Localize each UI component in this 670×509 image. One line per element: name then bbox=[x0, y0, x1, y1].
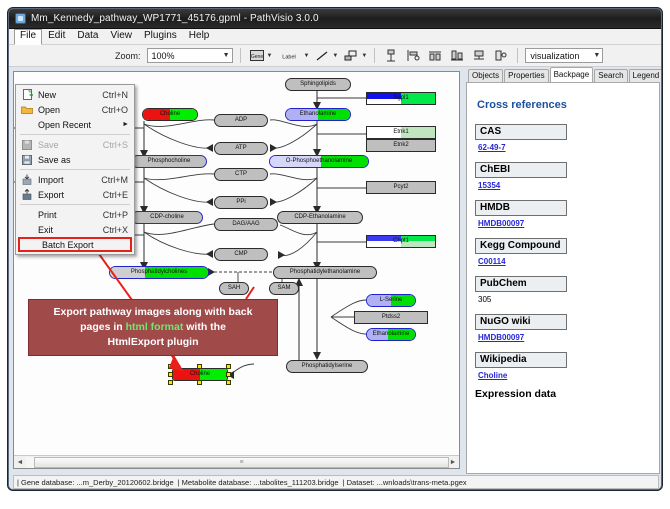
tab-backpage[interactable]: Backpage bbox=[550, 67, 594, 82]
toolbar-separator bbox=[240, 48, 241, 63]
xref-link[interactable]: HMDB00097 bbox=[478, 333, 651, 342]
pathway-node-cdp-choline[interactable]: CDP-choline bbox=[131, 211, 203, 224]
svg-text:Label: Label bbox=[283, 54, 296, 60]
pathway-gene-etnk1[interactable]: Etnk1 bbox=[366, 126, 436, 139]
pathway-node-phosphatidylethanolamine[interactable]: Phosphatidylethanolamine bbox=[273, 266, 377, 279]
chevron-down-icon: ▼ bbox=[223, 52, 230, 59]
xref-pubchem: PubChem 305 bbox=[475, 273, 651, 304]
menu-item-view[interactable]: View bbox=[104, 29, 138, 44]
menu-new-label: New bbox=[38, 90, 102, 100]
application-window: Mm_Kennedy_pathway_WP1771_45176.gpml - P… bbox=[8, 8, 662, 490]
pathway-node-cmp[interactable]: CMP bbox=[214, 248, 268, 261]
node-label: Phosphatidylserine bbox=[302, 363, 353, 370]
pathway-node-choline[interactable]: Choline bbox=[142, 108, 198, 121]
scroll-thumb[interactable]: ≡ bbox=[34, 457, 449, 468]
xref-wikipedia: Wikipedia Choline bbox=[475, 349, 651, 380]
resize-handle[interactable] bbox=[226, 372, 231, 377]
annotation-line-1: Export pathway images along with back bbox=[35, 305, 271, 320]
menu-new[interactable]: New Ctrl+N bbox=[16, 87, 134, 102]
zoom-label: Zoom: bbox=[115, 51, 141, 61]
cross-references-title: Cross references bbox=[477, 99, 651, 111]
toolbar-separator bbox=[517, 48, 518, 63]
toolbar-separator bbox=[374, 48, 375, 63]
node-label: Etnk1 bbox=[393, 129, 408, 136]
shape-icon[interactable] bbox=[342, 47, 360, 64]
save-icon bbox=[16, 137, 38, 152]
menu-export-accel: Ctrl+E bbox=[103, 190, 134, 200]
menu-separator bbox=[20, 204, 130, 205]
annotation-line-2-a: pages in bbox=[80, 321, 126, 333]
export-icon bbox=[16, 187, 38, 202]
node-label: O-Phosphoethanolamine bbox=[286, 158, 352, 165]
distribute-h-icon[interactable] bbox=[426, 47, 444, 64]
annotation-highlight: html format bbox=[126, 321, 184, 333]
menu-save[interactable]: Save Ctrl+S bbox=[16, 137, 134, 152]
canvas-hscrollbar[interactable]: ◄ ≡ ► bbox=[14, 455, 459, 468]
menu-batch-export-label: Batch Export bbox=[42, 240, 130, 250]
annotation-line-2: pages in html format with the bbox=[35, 320, 271, 335]
node-label: Chpt1 bbox=[393, 238, 409, 245]
menu-export[interactable]: Export Ctrl+E bbox=[16, 187, 134, 202]
node-label: SAM bbox=[277, 285, 290, 292]
node-label: Ethanolamine bbox=[373, 331, 410, 338]
xref-link[interactable]: C00114 bbox=[478, 257, 651, 266]
align-top-icon[interactable] bbox=[382, 47, 400, 64]
menu-print-label: Print bbox=[38, 210, 103, 220]
visualization-value: visualization bbox=[530, 51, 579, 61]
node-label: Sgpl1 bbox=[393, 95, 408, 102]
menu-exit[interactable]: Exit Ctrl+X bbox=[16, 222, 134, 237]
xref-link[interactable]: HMDB00097 bbox=[478, 219, 651, 228]
pathway-gene-pcyt2[interactable]: Pcyt2 bbox=[366, 181, 436, 194]
side-panel-tabs: Objects Properties Backpage Search Legen… bbox=[466, 68, 660, 82]
menu-item-plugins[interactable]: Plugins bbox=[138, 29, 183, 44]
genre-product-icon[interactable]: Gene bbox=[248, 47, 266, 64]
menu-item-data[interactable]: Data bbox=[71, 29, 104, 44]
annotation-line-3: HtmlExport plugin bbox=[35, 335, 271, 350]
node-label: L-Serine bbox=[380, 297, 403, 304]
pathway-node-l-serine[interactable]: L-Serine bbox=[366, 294, 416, 307]
pathway-gene-sgpl1[interactable]: Sgpl1 bbox=[366, 92, 436, 105]
xref-cas: CAS 62-49-7 bbox=[475, 121, 651, 152]
xref-db-name: NuGO wiki bbox=[475, 314, 567, 330]
resize-handle[interactable] bbox=[168, 372, 173, 377]
resize-handle[interactable] bbox=[226, 364, 231, 369]
pathway-node-cdp-ethanolamine[interactable]: CDP-Ethanolamine bbox=[277, 211, 363, 224]
shape-tool-split[interactable]: ▼ bbox=[342, 47, 367, 64]
xref-link[interactable]: 15354 bbox=[478, 181, 651, 190]
menu-open-accel: Ctrl+O bbox=[102, 105, 134, 115]
xref-link[interactable]: Choline bbox=[478, 371, 651, 380]
node-label: CMP bbox=[234, 251, 247, 258]
title-bar: Mm_Kennedy_pathway_WP1771_45176.gpml - P… bbox=[9, 9, 661, 29]
datanode-tool-split[interactable]: Gene ▼ bbox=[248, 47, 273, 64]
pathway-node-ppi[interactable]: PPi bbox=[214, 196, 268, 209]
node-label: Choline bbox=[190, 371, 210, 378]
resize-handle[interactable] bbox=[168, 380, 173, 385]
import-icon bbox=[16, 172, 38, 187]
pathway-node-choline-selected[interactable]: Choline bbox=[172, 368, 228, 381]
menu-import[interactable]: Import Ctrl+M bbox=[16, 172, 134, 187]
xref-db-name: HMDB bbox=[475, 200, 567, 216]
file-dropdown-menu[interactable]: New Ctrl+N Open Ctrl+O Open Recent ► bbox=[15, 84, 135, 255]
chevron-down-icon[interactable]: ▼ bbox=[267, 53, 273, 59]
chevron-down-icon[interactable]: ▼ bbox=[332, 53, 338, 59]
xref-db-name: ChEBI bbox=[475, 162, 567, 178]
xref-chebi: ChEBI 15354 bbox=[475, 159, 651, 190]
menu-item-edit[interactable]: Edit bbox=[42, 29, 71, 44]
node-label: ATP bbox=[235, 145, 246, 152]
menu-item-file[interactable]: File bbox=[14, 29, 42, 45]
menu-save-label: Save bbox=[38, 140, 103, 150]
node-label: PPi bbox=[236, 199, 245, 206]
tab-search[interactable]: Search bbox=[594, 69, 627, 82]
pathway-node-ethanolamine-top[interactable]: Ethanolamine bbox=[285, 108, 351, 121]
window-title: Mm_Kennedy_pathway_WP1771_45176.gpml - P… bbox=[31, 13, 319, 24]
node-label: Phosphocholine bbox=[148, 158, 191, 165]
node-label: Ptdss2 bbox=[382, 314, 400, 321]
tab-properties[interactable]: Properties bbox=[504, 69, 548, 82]
pathway-node-ethanolamine-bottom[interactable]: Ethanolamine bbox=[366, 328, 416, 341]
node-label: DAG/AAG bbox=[232, 221, 259, 228]
menu-exit-label: Exit bbox=[38, 225, 103, 235]
expression-data-title: Expression data bbox=[475, 388, 651, 400]
size-common-icon[interactable] bbox=[470, 47, 488, 64]
pathway-node-phosphocholine[interactable]: Phosphocholine bbox=[131, 155, 207, 168]
menu-save-accel: Ctrl+S bbox=[103, 140, 134, 150]
chevron-down-icon[interactable]: ▼ bbox=[303, 53, 309, 59]
pathvisio-icon bbox=[15, 13, 26, 24]
menu-exit-accel: Ctrl+X bbox=[103, 225, 134, 235]
node-label: ADP bbox=[235, 117, 247, 124]
new-file-icon bbox=[16, 87, 38, 102]
svg-text:Gene: Gene bbox=[250, 54, 262, 60]
chevron-down-icon[interactable]: ▼ bbox=[361, 53, 367, 59]
open-folder-icon bbox=[16, 102, 38, 117]
node-label: Ethanolamine bbox=[300, 111, 337, 118]
backpage-content: Cross references CAS 62-49-7 ChEBI 15354… bbox=[466, 82, 660, 474]
menu-batch-export[interactable]: Batch Export bbox=[18, 237, 132, 252]
node-label: Phosphatidylcholines bbox=[131, 269, 187, 276]
resize-handle[interactable] bbox=[168, 364, 173, 369]
tab-objects[interactable]: Objects bbox=[468, 69, 503, 82]
menu-export-label: Export bbox=[38, 190, 103, 200]
label-tool-split[interactable]: Label ▼ bbox=[276, 47, 309, 64]
pathway-node-sphingolipids[interactable]: Sphingolipids bbox=[285, 78, 351, 91]
pathway-node-atp[interactable]: ATP bbox=[214, 142, 268, 155]
visualization-combo[interactable]: visualization ▼ bbox=[525, 48, 603, 63]
zoom-combo[interactable]: 100% ▼ bbox=[147, 48, 233, 63]
pathway-gene-etnk2[interactable]: Etnk2 bbox=[366, 139, 436, 152]
menu-import-accel: Ctrl+M bbox=[101, 175, 134, 185]
line-icon[interactable] bbox=[313, 47, 331, 64]
xref-kegg-compound: Kegg Compound C00114 bbox=[475, 235, 651, 266]
status-gene-database: | Gene database: ...m_Derby_20120602.bri… bbox=[17, 478, 174, 487]
align-left-icon[interactable] bbox=[404, 47, 422, 64]
screenshot-root: Mm_Kennedy_pathway_WP1771_45176.gpml - P… bbox=[0, 0, 670, 509]
xref-db-name: PubChem bbox=[475, 276, 567, 292]
menu-open-recent[interactable]: Open Recent ► bbox=[16, 117, 134, 132]
scroll-left-arrow-icon[interactable]: ◄ bbox=[14, 456, 26, 468]
status-metabolite-database: | Metabolite database: ...tabolites_1112… bbox=[178, 478, 339, 487]
node-label: Pcyt2 bbox=[393, 184, 408, 191]
node-label: Sphingolipids bbox=[300, 81, 336, 88]
pathway-node-sam[interactable]: SAM bbox=[269, 282, 299, 295]
chevron-right-icon: ► bbox=[122, 121, 134, 128]
pathway-node-adp[interactable]: ADP bbox=[214, 114, 268, 127]
menu-new-accel: Ctrl+N bbox=[102, 90, 134, 100]
menu-open[interactable]: Open Ctrl+O bbox=[16, 102, 134, 117]
node-label: CDP-Ethanolamine bbox=[294, 214, 345, 221]
scroll-track[interactable]: ≡ bbox=[26, 457, 447, 468]
node-label: SAH bbox=[228, 285, 240, 292]
xref-value: 305 bbox=[478, 295, 651, 304]
status-bar: | Gene database: ...m_Derby_20120602.bri… bbox=[13, 475, 659, 489]
menu-open-label: Open bbox=[38, 105, 102, 115]
menu-separator bbox=[20, 134, 130, 135]
chevron-down-icon: ▼ bbox=[593, 52, 600, 59]
zoom-value: 100% bbox=[152, 51, 175, 61]
menu-save-as-label: Save as bbox=[38, 155, 128, 165]
menu-save-as[interactable]: Save as bbox=[16, 152, 134, 167]
node-label: Choline bbox=[160, 111, 180, 118]
node-label: CTP bbox=[235, 171, 247, 178]
pathway-gene-ptdss2[interactable]: Ptdss2 bbox=[354, 311, 428, 324]
xref-hmdb: HMDB HMDB00097 bbox=[475, 197, 651, 228]
xref-link[interactable]: 62-49-7 bbox=[478, 143, 651, 152]
line-tool-split[interactable]: ▼ bbox=[313, 47, 338, 64]
resize-handle[interactable] bbox=[197, 364, 202, 369]
menu-open-recent-label: Open Recent bbox=[38, 120, 122, 130]
node-label: Phosphatidylethanolamine bbox=[290, 269, 360, 276]
menu-separator bbox=[20, 169, 130, 170]
annotation-line-2-b: with the bbox=[183, 321, 226, 333]
menu-print[interactable]: Print Ctrl+P bbox=[16, 207, 134, 222]
resize-handle[interactable] bbox=[197, 380, 202, 385]
distribute-v-icon[interactable] bbox=[448, 47, 466, 64]
pathway-node-sah[interactable]: SAH bbox=[219, 282, 249, 295]
xref-db-name: CAS bbox=[475, 124, 567, 140]
pathway-node-ctp[interactable]: CTP bbox=[214, 168, 268, 181]
pathway-node-o-phosphoethanolamine[interactable]: O-Phosphoethanolamine bbox=[269, 155, 369, 168]
pathway-node-dag-aag[interactable]: DAG/AAG bbox=[214, 218, 278, 231]
side-panel: Objects Properties Backpage Search Legen… bbox=[466, 68, 660, 475]
node-label: CDP-choline bbox=[150, 214, 184, 221]
bring-to-front-icon[interactable] bbox=[492, 47, 510, 64]
tab-legend[interactable]: Legend bbox=[629, 69, 662, 82]
xref-nugo-wiki: NuGO wiki HMDB00097 bbox=[475, 311, 651, 342]
menu-print-accel: Ctrl+P bbox=[103, 210, 134, 220]
status-dataset: | Dataset: ...wnloads\trans-meta.pgex bbox=[343, 478, 467, 487]
xref-db-name: Wikipedia bbox=[475, 352, 567, 368]
menu-item-help[interactable]: Help bbox=[183, 29, 216, 44]
menu-import-label: Import bbox=[38, 175, 101, 185]
menu-bar: File Edit Data View Plugins Help bbox=[9, 29, 661, 45]
pathway-node-phosphatidylcholines[interactable]: Phosphatidylcholines bbox=[109, 266, 209, 279]
node-label: Etnk2 bbox=[393, 142, 408, 149]
xref-db-name: Kegg Compound bbox=[475, 238, 567, 254]
annotation-callout: Export pathway images along with back pa… bbox=[28, 299, 278, 356]
resize-handle[interactable] bbox=[226, 380, 231, 385]
pathway-gene-chpt1[interactable]: Chpt1 bbox=[366, 235, 436, 248]
pathway-node-phosphatidylserine[interactable]: Phosphatidylserine bbox=[286, 360, 368, 373]
save-as-icon bbox=[16, 152, 38, 167]
label-icon[interactable]: Label bbox=[276, 47, 302, 64]
toolbar: Zoom: 100% ▼ Gene ▼ Label ▼ bbox=[9, 45, 661, 67]
